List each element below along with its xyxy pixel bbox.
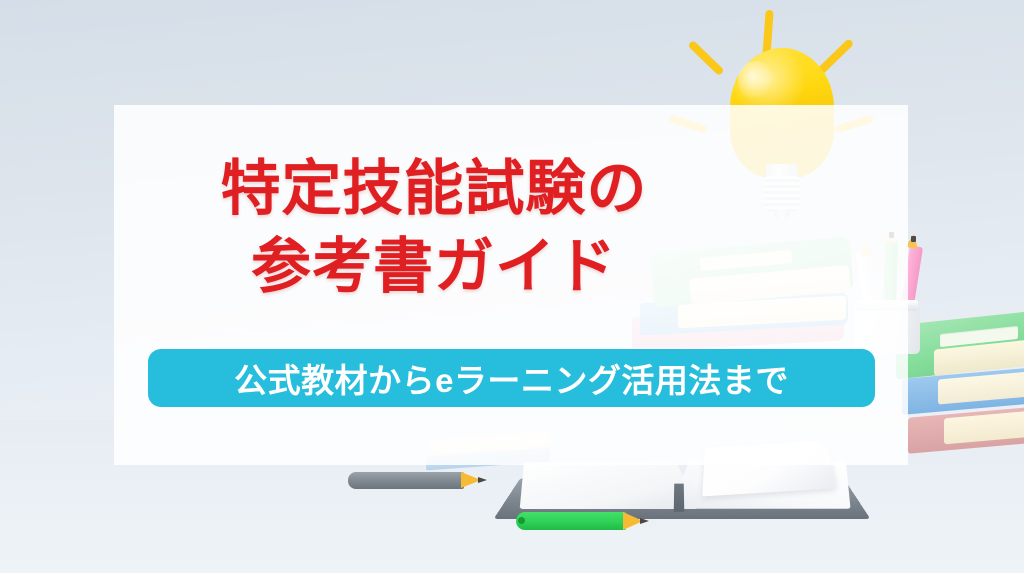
page-title: 特定技能試験の 参考書ガイド — [114, 150, 754, 306]
pencil-lead — [478, 477, 487, 483]
title-line-2: 参考書ガイド — [251, 233, 617, 300]
pencil-lead — [911, 236, 916, 242]
open-book-left-page — [520, 462, 697, 509]
grey-pencil — [348, 472, 488, 489]
lightbulb-ray — [687, 40, 724, 76]
title-line-1: 特定技能試験の — [221, 155, 648, 222]
subtitle-text: 公式教材からeラーニング活用法まで — [234, 354, 789, 402]
banner-image: 特定技能試験の 参考書ガイド 公式教材からeラーニング活用法まで — [0, 0, 1024, 573]
green-pencil — [516, 512, 650, 530]
subtitle-banner: 公式教材からeラーニング活用法まで — [148, 349, 875, 407]
pencil-body — [348, 472, 464, 489]
pencil-end-cap — [518, 517, 525, 524]
pencil-lead — [640, 518, 649, 524]
pencil-body — [516, 512, 626, 530]
open-book-spine — [674, 484, 685, 512]
